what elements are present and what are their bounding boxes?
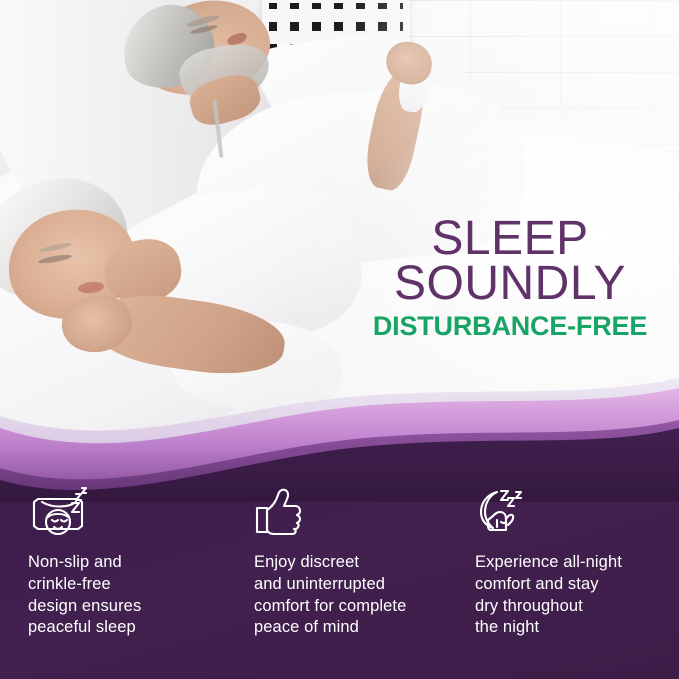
feature-text-1: Non-slip and crinkle-free design ensures… [28,552,232,639]
feature-item-2: Enjoy discreet and uninterrupted comfort… [232,486,458,679]
moon-sleeping-cat-icon [475,486,679,542]
thumbs-up-icon [254,486,458,542]
headline-line-1: SLEEP [352,216,668,261]
features-row: Non-slip and crinkle-free design ensures… [0,486,679,679]
wave-divider [0,372,679,502]
feature-text-3: Experience all-night comfort and stay dr… [475,552,679,639]
marketing-banner: SLEEP SOUNDLY DISTURBANCE-FREE [0,0,679,679]
feature-item-3: Experience all-night comfort and stay dr… [458,486,679,679]
headline-block: SLEEP SOUNDLY DISTURBANCE-FREE [352,216,668,340]
feature-text-2: Enjoy discreet and uninterrupted comfort… [254,552,458,639]
sleeping-face-pillow-icon [28,486,232,542]
feature-item-1: Non-slip and crinkle-free design ensures… [0,486,232,679]
headline-subtitle: DISTURBANCE-FREE [352,313,668,340]
headline-line-2: SOUNDLY [352,261,668,306]
